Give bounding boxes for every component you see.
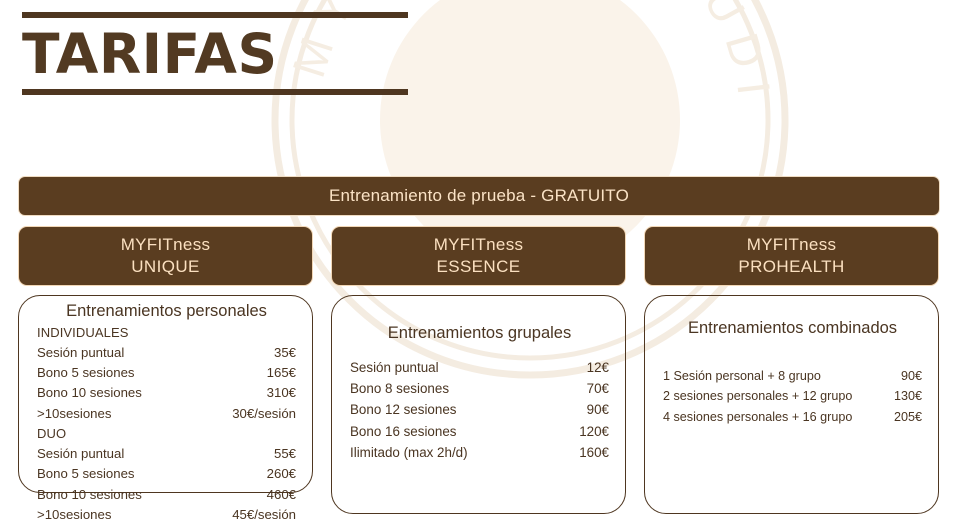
column-plan-unique: UNIQUE [131,256,200,278]
row-label: Sesión puntual [37,343,124,363]
pricing-card-prohealth: Entrenamientos combinados 1 Sesión perso… [644,295,939,514]
table-row: Bono 5 sesiones 165€ [37,363,296,383]
table-row: 1 Sesión personal + 8 grupo 90€ [663,366,922,386]
column-brand-unique: MYFITness [121,234,211,256]
table-row: Sesión puntual 35€ [37,343,296,363]
column-header-essence[interactable]: MYFITness ESSENCE [331,226,626,286]
price-rows-combinados: 1 Sesión personal + 8 grupo 90€ 2 sesion… [663,366,922,427]
table-row: Ilimitado (max 2h/d) 160€ [350,442,609,463]
row-label: Bono 10 sesiones [37,383,142,403]
row-label: Bono 10 sesiones [37,485,142,505]
page-title: TARIFAS [22,25,408,83]
card-title-unique: Entrenamientos personales [37,302,296,321]
row-price: 35€ [274,343,296,363]
pricing-column-unique: MYFITness UNIQUE Entrenamientos personal… [18,226,313,514]
pricing-column-prohealth: MYFITness PROHEALTH Entrenamientos combi… [644,226,939,514]
column-brand-prohealth: MYFITness [747,234,837,256]
row-price: 12€ [587,357,609,378]
row-price: 120€ [579,421,609,442]
table-row: >10sesiones 30€/sesión [37,404,296,424]
row-price: 45€/sesión [232,505,296,525]
row-label: Sesión puntual [37,444,124,464]
card-title-essence: Entrenamientos grupales [350,324,609,343]
row-label: 2 sesiones personales + 12 grupo [663,386,852,406]
group-label-individuales: INDIVIDUALES [37,323,296,343]
price-rows-duo: Sesión puntual 55€ Bono 5 sesiones 260€ … [37,444,296,526]
pricing-card-unique: Entrenamientos personales INDIVIDUALES S… [18,295,313,493]
price-rows-grupales: Sesión puntual 12€ Bono 8 sesiones 70€ B… [350,357,609,463]
row-label: Bono 8 sesiones [350,378,449,399]
table-row: Bono 8 sesiones 70€ [350,378,609,399]
row-price: 90€ [587,399,609,420]
row-price: 160€ [579,442,609,463]
title-rule-bottom [22,89,408,95]
row-price: 260€ [267,464,296,484]
card-title-prohealth: Entrenamientos combinados [663,319,922,338]
table-row: Bono 10 sesiones 310€ [37,383,296,403]
row-label: >10sesiones [37,505,111,525]
row-label: Sesión puntual [350,357,439,378]
table-row: Bono 10 sesiones 460€ [37,485,296,505]
table-row: 4 sesiones personales + 16 grupo 205€ [663,407,922,427]
title-rule-top [22,12,408,18]
row-price: 310€ [267,383,296,403]
row-price: 70€ [587,378,609,399]
table-row: Sesión puntual 55€ [37,444,296,464]
table-row: >10sesiones 45€/sesión [37,505,296,525]
table-row: 2 sesiones personales + 12 grupo 130€ [663,386,922,406]
column-header-prohealth[interactable]: MYFITness PROHEALTH [644,226,939,286]
row-label: Bono 12 sesiones [350,399,456,420]
row-label: 4 sesiones personales + 16 grupo [663,407,852,427]
row-label: >10sesiones [37,404,111,424]
row-price: 460€ [267,485,296,505]
column-plan-essence: ESSENCE [436,256,520,278]
row-price: 165€ [267,363,296,383]
column-header-unique[interactable]: MYFITness UNIQUE [18,226,313,286]
price-rows-individuales: Sesión puntual 35€ Bono 5 sesiones 165€ … [37,343,296,425]
table-row: Bono 16 sesiones 120€ [350,421,609,442]
free-trial-banner: Entrenamiento de prueba - GRATUITO [18,176,940,216]
row-label: 1 Sesión personal + 8 grupo [663,366,821,386]
column-brand-essence: MYFITness [434,234,524,256]
row-label: Bono 5 sesiones [37,464,135,484]
row-price: 90€ [876,366,922,386]
row-label: Ilimitado (max 2h/d) [350,442,468,463]
row-price: 205€ [876,407,922,427]
row-price: 130€ [876,386,922,406]
pricing-card-essence: Entrenamientos grupales Sesión puntual 1… [331,295,626,514]
group-label-duo: DUO [37,424,296,444]
pricing-column-essence: MYFITness ESSENCE Entrenamientos grupale… [331,226,626,514]
free-trial-banner-label: Entrenamiento de prueba - GRATUITO [329,186,629,206]
row-label: Bono 5 sesiones [37,363,135,383]
table-row: Bono 5 sesiones 260€ [37,464,296,484]
page-title-block: TARIFAS [22,12,408,95]
table-row: Sesión puntual 12€ [350,357,609,378]
pricing-columns: MYFITness UNIQUE Entrenamientos personal… [18,226,940,514]
row-price: 30€/sesión [232,404,296,424]
row-label: Bono 16 sesiones [350,421,456,442]
column-plan-prohealth: PROHEALTH [738,256,844,278]
row-price: 55€ [274,444,296,464]
table-row: Bono 12 sesiones 90€ [350,399,609,420]
